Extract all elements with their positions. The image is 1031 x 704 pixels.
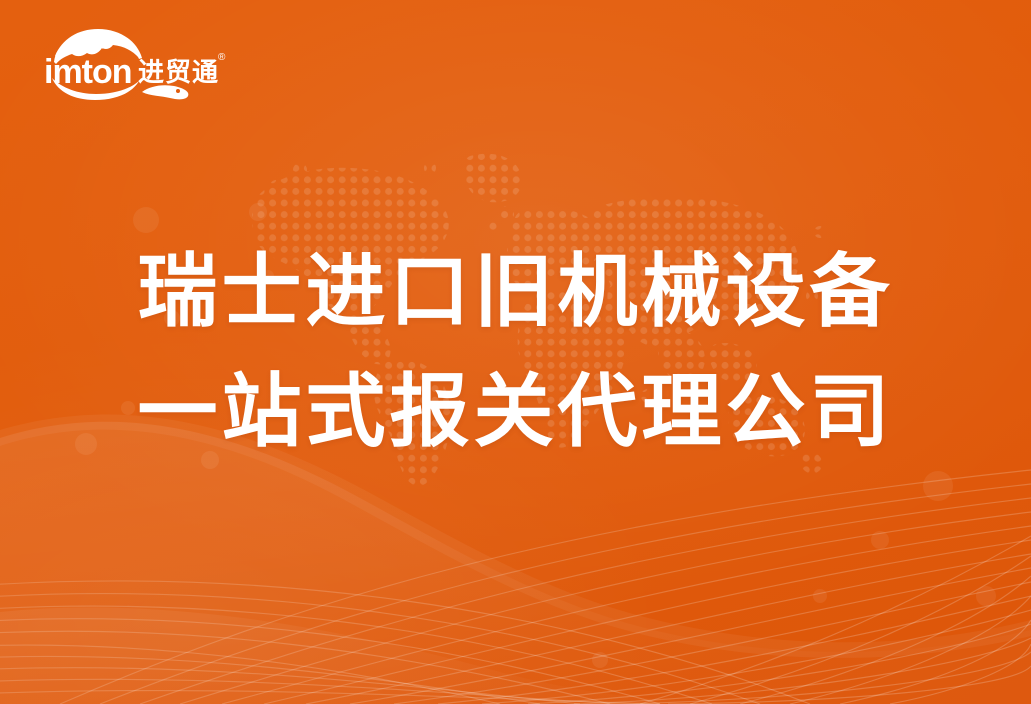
logo-chinese: 进贸通 ® xyxy=(138,52,226,87)
headline-line-1: 瑞士进口旧机械设备 xyxy=(0,232,1031,352)
headline-line-2: 一站式报关代理公司 xyxy=(0,352,1031,472)
logo-wordmark: imton xyxy=(44,53,132,91)
svg-text:®: ® xyxy=(218,52,226,63)
promo-banner: imton 进贸通 ® 瑞士进口旧机械设备 一站式报关代理公司 xyxy=(0,0,1031,704)
brand-logo[interactable]: imton 进贸通 ® xyxy=(38,26,228,104)
svg-text:imton: imton xyxy=(44,53,132,91)
headline-block: 瑞士进口旧机械设备 一站式报关代理公司 xyxy=(0,232,1031,472)
svg-text:进贸通: 进贸通 xyxy=(138,57,219,87)
